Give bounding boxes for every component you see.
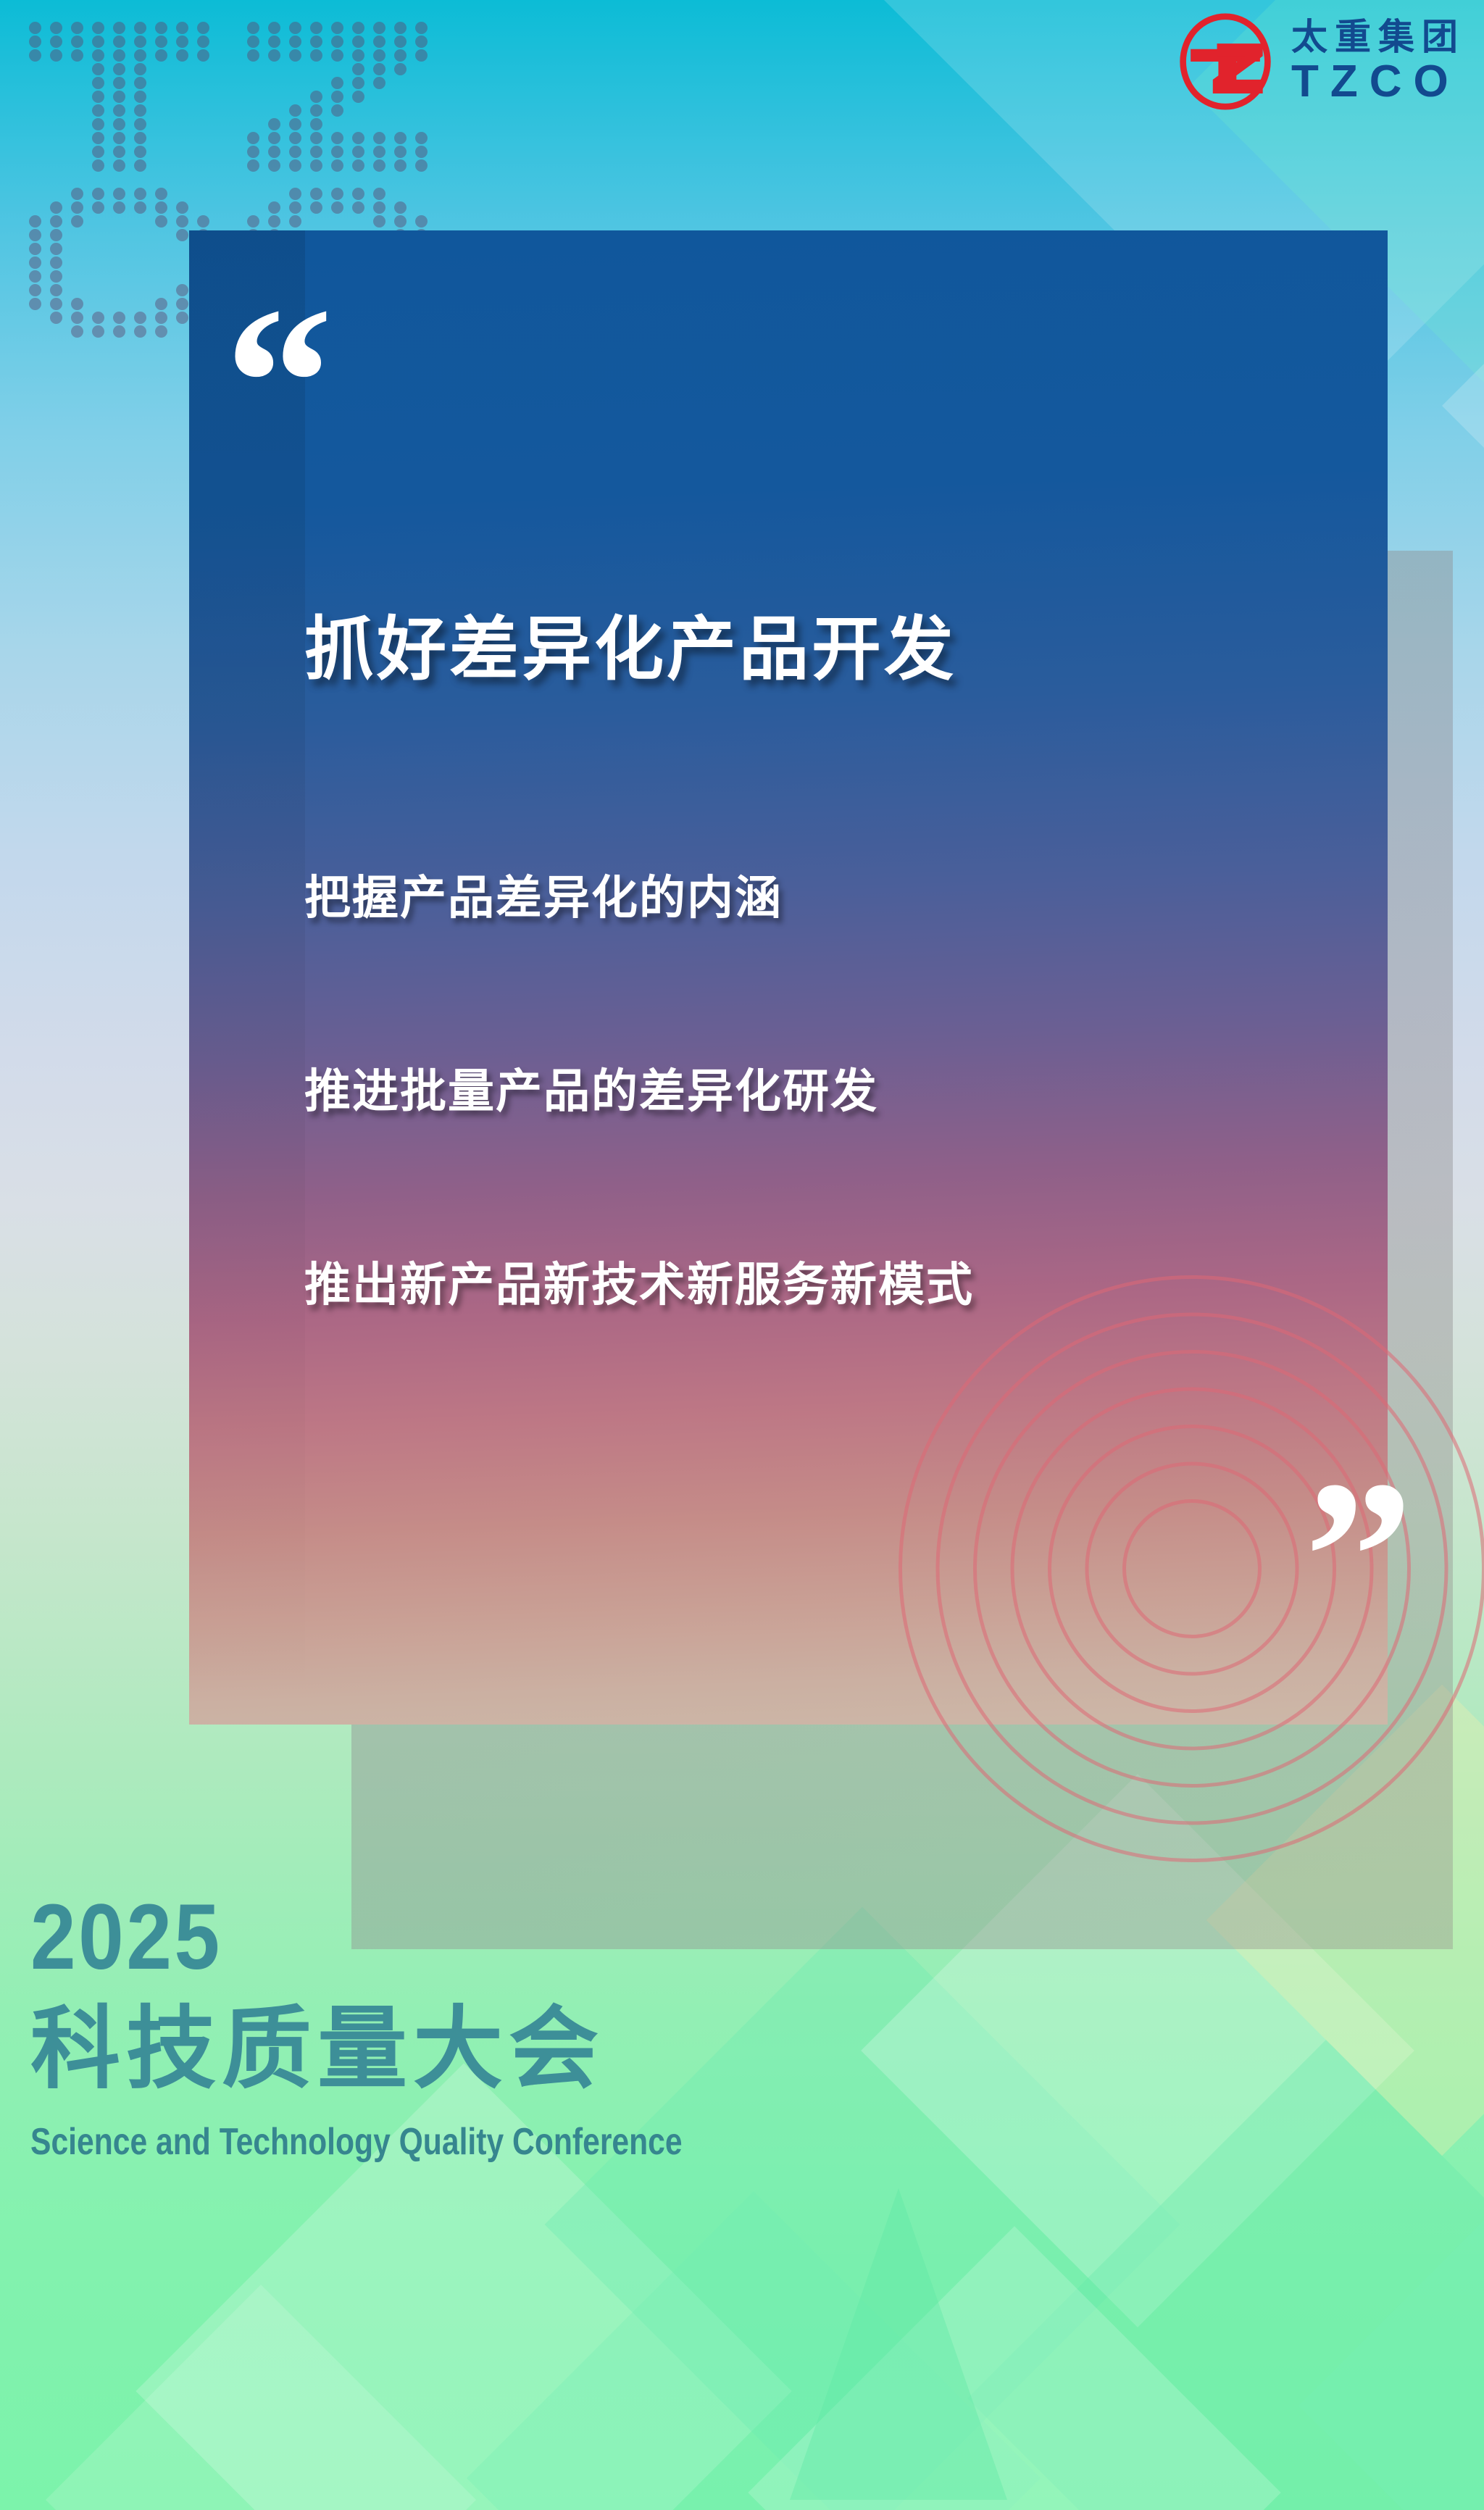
tz-circle-icon xyxy=(1177,13,1274,110)
brand-name-cn: 太重集团 xyxy=(1291,19,1465,55)
footer-title-en: Science and Technology Quality Conferenc… xyxy=(30,2123,683,2161)
background-triangle xyxy=(790,2188,1007,2500)
poster-canvas: “ ” 抓好差异化产品开发 把握产品差异化的内涵 推进批量产品的差异化研发 推出… xyxy=(0,0,1484,2510)
background-diamond-7 xyxy=(748,2226,1280,2510)
card-point-3: 推出新产品新技术新服务新模式 xyxy=(304,1248,1362,1314)
footer-block: 2025 科技质量大会 Science and Technology Quali… xyxy=(30,1891,825,2161)
footer-title-cn: 科技质量大会 xyxy=(30,2004,825,2094)
card-point-2: 推进批量产品的差异化研发 xyxy=(304,1054,1362,1121)
brand-logo-text: 太重集团 TZCO xyxy=(1291,19,1465,104)
background-diamond-8 xyxy=(46,2285,476,2510)
close-quote-icon: ” xyxy=(1304,1478,1409,1635)
background-diamond-4 xyxy=(967,2040,1484,2510)
open-quote-icon: “ xyxy=(225,304,329,461)
brand-name-en: TZCO xyxy=(1291,59,1465,104)
brand-logo: 太重集团 TZCO xyxy=(1177,13,1465,110)
watermark-letter-t xyxy=(29,22,217,175)
watermark-letter-z xyxy=(247,22,435,175)
ring-7 xyxy=(1122,1499,1262,1638)
footer-year: 2025 xyxy=(30,1891,730,1984)
background-diamond-9 xyxy=(1298,2139,1484,2510)
card-headline: 抓好差异化产品开发 xyxy=(304,593,1333,693)
card-point-1: 把握产品差异化的内涵 xyxy=(304,861,1362,927)
background-diamond-5 xyxy=(467,2191,1041,2510)
